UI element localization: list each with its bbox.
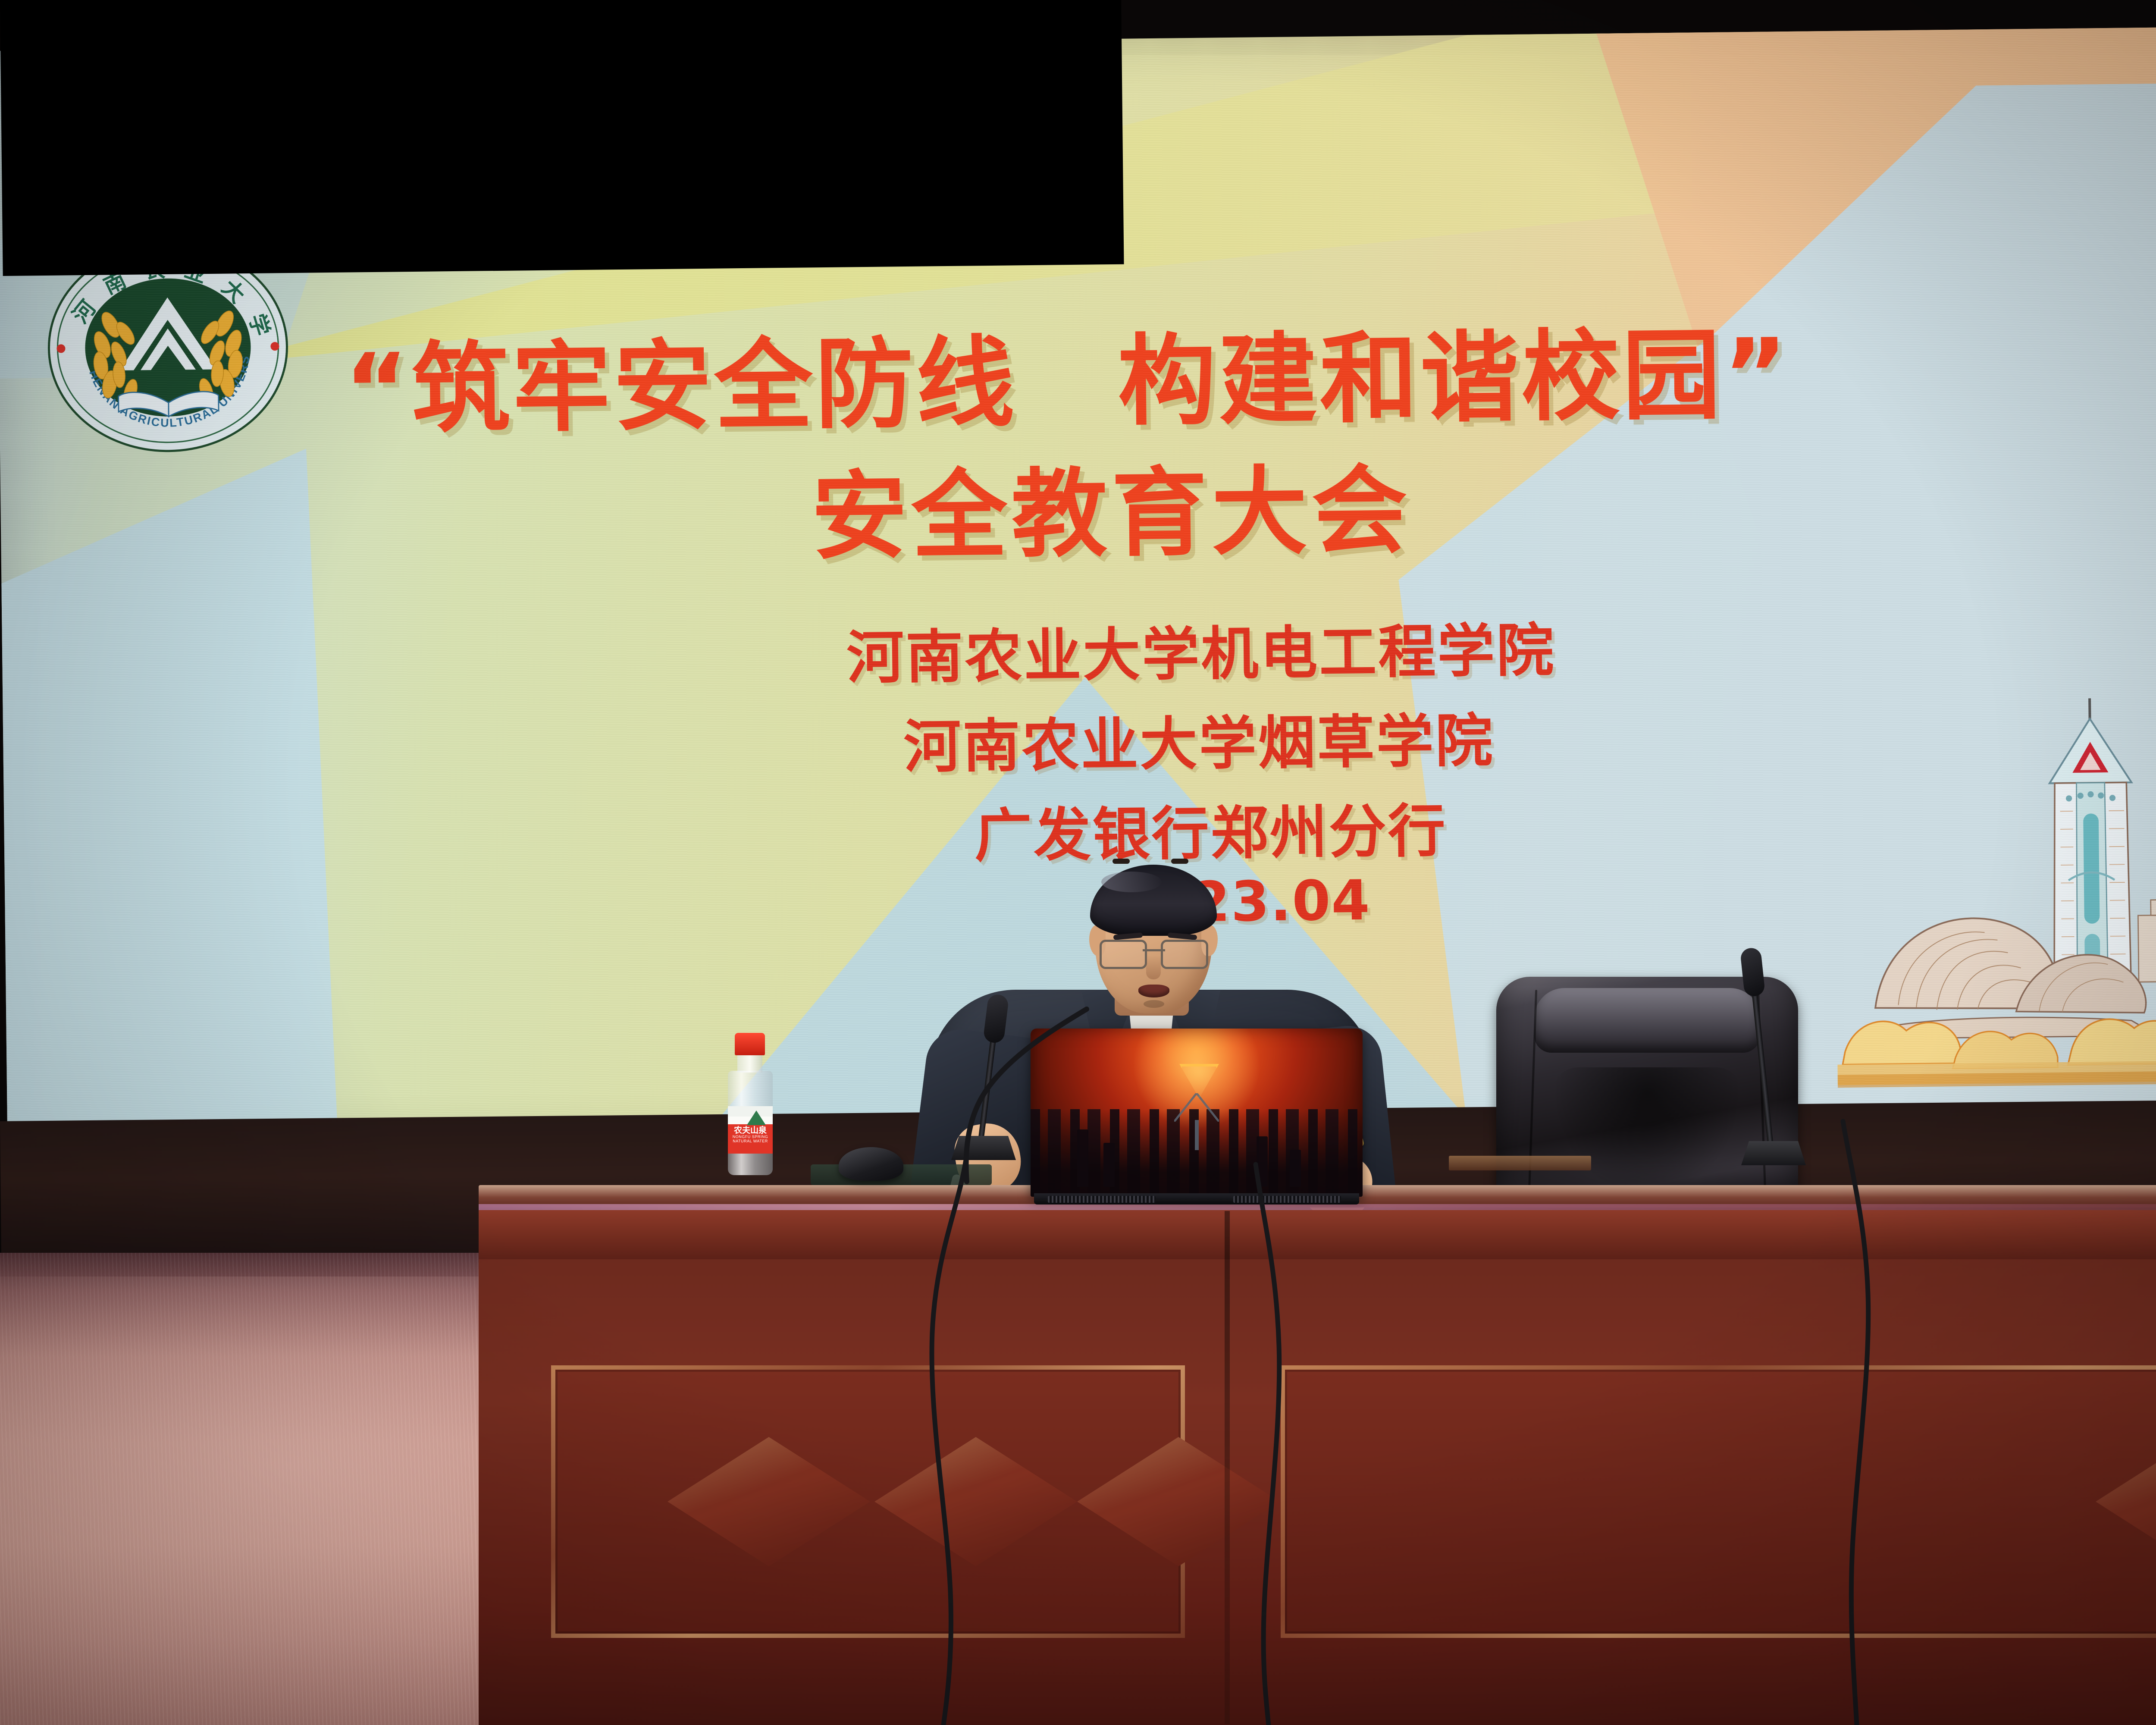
- water-bottle[interactable]: 农夫山泉NONGFU SPRINGNATURAL WATER: [724, 1033, 776, 1175]
- auditorium-stage: 河南农业大学 HENAN AGRICULTURAL UNIVERSITY: [0, 0, 2156, 1725]
- bottle-mountain-icon: [747, 1110, 766, 1125]
- slide-title-line-2: 安全教育大会: [811, 425, 2106, 577]
- bottle-neck: [737, 1054, 762, 1073]
- power-cable-center: [1207, 1164, 1423, 1725]
- speaker-eye-right: [1171, 859, 1188, 864]
- chair-lumbar-shadow: [1552, 1067, 1742, 1197]
- speaker-mouth: [1138, 985, 1169, 997]
- desk-nameplate: [1449, 1156, 1591, 1170]
- power-cable-right: [1751, 1121, 1992, 1725]
- speaker-hair: [1090, 865, 1217, 936]
- legion-y-logo-icon: [1174, 1093, 1219, 1150]
- speaker-eye-left: [1112, 859, 1130, 864]
- slide-subtitle-1: 河南农业大学机电工程学院: [846, 604, 1556, 695]
- desk-diamond-4: [2096, 1437, 2156, 1566]
- bottle-cap: [735, 1033, 765, 1055]
- speaker-chin: [1144, 1000, 1164, 1008]
- slide-subtitle-2: 河南农业大学烟草学院: [903, 694, 1495, 784]
- glasses-lens-left: [1100, 940, 1147, 969]
- computer-mouse[interactable]: [839, 1147, 903, 1181]
- dark-ceiling-left: [0, 0, 1124, 276]
- glasses-lens-right: [1161, 940, 1208, 969]
- speaker-nose: [1146, 955, 1161, 979]
- desk-diamond-1: [667, 1437, 870, 1566]
- microphone-cable: [944, 1009, 1125, 1190]
- chair-headrest: [1534, 988, 1760, 1053]
- bottle-brand-text: 农夫山泉NONGFU SPRINGNATURAL WATER: [731, 1126, 769, 1143]
- bottle-label: 农夫山泉NONGFU SPRINGNATURAL WATER: [728, 1106, 773, 1154]
- glasses-bridge: [1143, 949, 1165, 951]
- power-cable-left: [906, 1160, 1121, 1725]
